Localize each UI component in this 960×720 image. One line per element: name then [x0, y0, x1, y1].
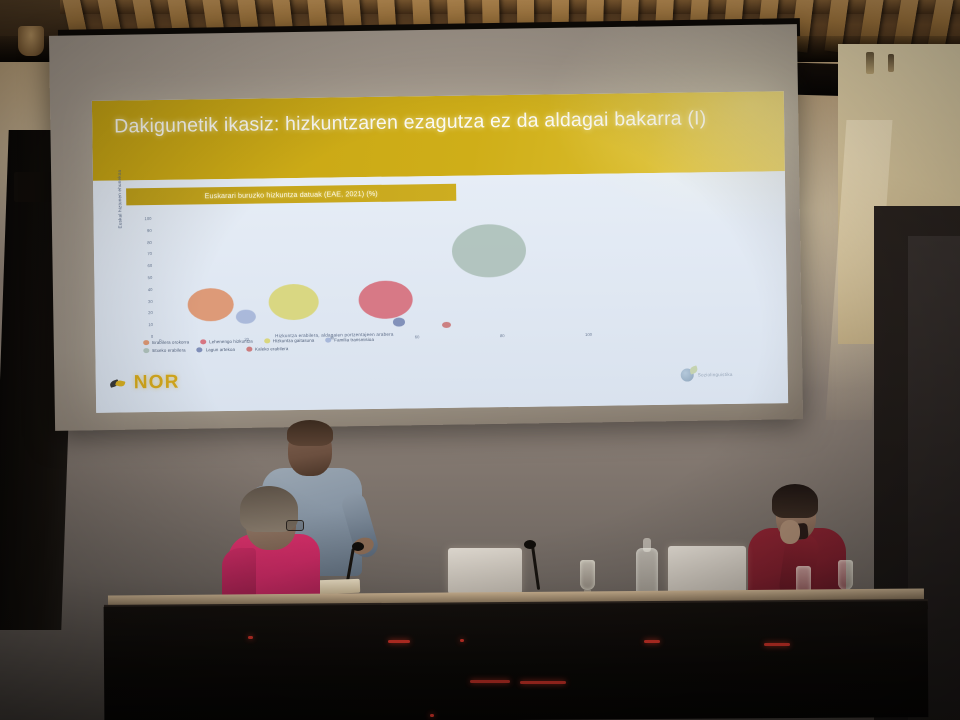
legend-item: Familia transmisioa: [325, 337, 374, 343]
legend-label: Hizkuntza gaitasuna: [273, 338, 315, 344]
y-tick-label: 10: [137, 322, 153, 327]
nor-logo: NOR: [110, 372, 180, 395]
wall-lamp-icon: [866, 52, 874, 74]
y-tick-label: 40: [136, 287, 152, 292]
legend-color-swatch: [325, 338, 331, 343]
chart-bubble: [442, 322, 451, 329]
y-tick-label: 90: [136, 228, 152, 233]
led-indicator: [764, 643, 790, 646]
legend-item: Lagun artekoa: [197, 347, 235, 353]
led-indicator: [430, 714, 434, 717]
slide-title-band: Dakigunetik ikasiz: hizkuntzaren ezagutz…: [92, 91, 785, 181]
led-indicator: [460, 639, 464, 642]
microphone-head-center: [524, 540, 536, 549]
y-tick-label: 100: [135, 216, 151, 221]
chart-title-band: Euskarari buruzko hizkuntza datuak (EAE,…: [126, 184, 456, 206]
legend-color-swatch: [246, 347, 252, 352]
legend-color-swatch: [200, 340, 206, 345]
legend-label: Lehenengo hizkuntza: [209, 339, 253, 345]
led-indicator: [388, 640, 410, 643]
legend-item: Hizkuntza gaitasuna: [264, 338, 315, 344]
chart-bubble: [188, 288, 234, 322]
legend-color-swatch: [197, 348, 203, 353]
legend-item: Erabilera orokorra: [143, 340, 189, 346]
y-tick-label: 20: [137, 310, 153, 315]
led-indicator: [470, 680, 510, 683]
chart-legend: Erabilera orokorraLehenengo hizkuntzaHiz…: [137, 334, 557, 356]
legend-label: Kaleko erabilera: [255, 346, 288, 351]
legend-item: Etxeko erabilera: [143, 348, 185, 354]
y-tick-label: 0: [137, 334, 153, 339]
legend-item: Lehenengo hizkuntza: [200, 339, 253, 345]
eyeglasses-icon: [286, 520, 304, 531]
chart-bubble: [269, 284, 319, 321]
panel-table-front: [104, 601, 929, 720]
ceiling-joist: [60, 0, 960, 14]
nor-logo-text: NOR: [134, 372, 180, 395]
standing-presenter-hair: [287, 420, 333, 446]
partner-logo-text: Soziolinguistika: [698, 372, 733, 377]
legend-color-swatch: [143, 340, 149, 345]
microphone-head-left: [352, 542, 364, 551]
legend-color-swatch: [264, 339, 270, 344]
laptop-right-screen: [668, 546, 746, 594]
legend-item: Kaleko erabilera: [246, 346, 288, 352]
chart-bubble: [452, 224, 527, 278]
x-tick-label: 100: [585, 332, 592, 337]
slide-body: Euskarari buruzko hizkuntza datuak (EAE,…: [93, 171, 788, 413]
chart-bubble: [393, 318, 405, 327]
presentation-photo: Dakigunetik ikasiz: hizkuntzaren ezagutz…: [0, 0, 960, 720]
y-tick-label: 50: [136, 275, 152, 280]
legend-color-swatch: [143, 348, 149, 353]
y-tick-label: 30: [137, 299, 153, 304]
partner-logo: Soziolinguistika: [681, 368, 733, 382]
led-indicator: [248, 636, 253, 639]
slide-title-text: Dakigunetik ikasiz: hizkuntzaren ezagutz…: [92, 91, 784, 140]
y-tick-label: 70: [136, 251, 152, 256]
globe-icon: [681, 368, 694, 381]
y-tick-label: 60: [136, 263, 152, 268]
seated-panelist-right-hair: [772, 484, 818, 518]
y-tick-label: 80: [136, 240, 152, 245]
legend-label: Lagun artekoa: [206, 347, 235, 352]
water-glass-far-right: [838, 560, 853, 590]
bird-icon: [110, 378, 126, 389]
legend-label: Etxeko erabilera: [152, 348, 185, 353]
chart-bubble: [358, 280, 413, 320]
chart-bubble: [236, 310, 256, 325]
laptop-left-screen: [448, 548, 522, 594]
seated-panelist-right-hand: [780, 520, 800, 544]
led-indicator: [520, 681, 566, 684]
legend-label: Familia transmisioa: [334, 337, 374, 343]
left-wall-lamp-icon: [18, 26, 44, 56]
legend-label: Erabilera orokorra: [152, 340, 189, 346]
water-glass-center: [580, 560, 595, 590]
chart-title-text: Euskarari buruzko hizkuntza datuak (EAE,…: [126, 184, 456, 206]
projected-slide: Dakigunetik ikasiz: hizkuntzaren ezagutz…: [92, 91, 788, 413]
led-indicator: [644, 640, 660, 643]
wall-lamp-secondary-icon: [888, 54, 894, 72]
bubble-chart-plot-area: Euskal hiztunen ehunekoa 100908070605040…: [123, 202, 725, 332]
